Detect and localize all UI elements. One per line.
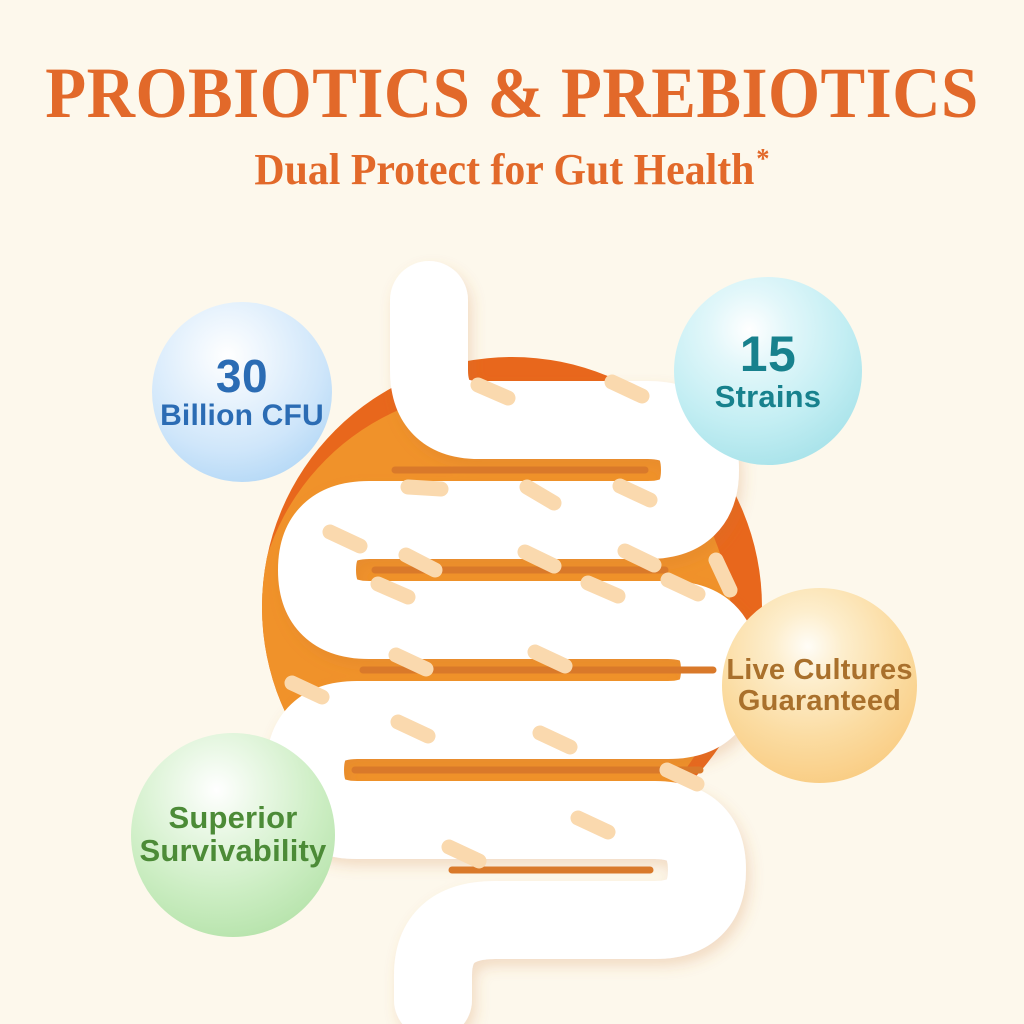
page-title: PROBIOTICS & PREBIOTICS [36,0,988,131]
badge-cultures-line2: Guaranteed [738,686,901,717]
probiotics-infographic-poster: PROBIOTICS & PREBIOTICS Dual Protect for… [0,0,1024,1024]
badge-survive-line2: Survivability [140,835,327,868]
badge-strains-value: 15 [740,328,797,381]
page-subtitle: Dual Protect for Gut Health* [26,131,999,193]
footnote-asterisk: * [756,144,769,175]
badge-15-strains: 15 Strains [674,277,862,465]
badge-cfu-value: 30 [216,352,268,401]
badge-survive-line1: Superior [168,802,297,835]
badge-cultures-line1: Live Cultures [726,655,912,686]
badge-cfu-label: Billion CFU [160,400,324,432]
badge-strains-label: Strains [715,381,822,414]
badge-live-cultures-guaranteed: Live Cultures Guaranteed [722,588,917,783]
subtitle-text: Dual Protect for Gut Health [254,145,754,194]
badge-30-billion-cfu: 30 Billion CFU [152,302,332,482]
header: PROBIOTICS & PREBIOTICS Dual Protect for… [0,0,1024,193]
badge-superior-survivability: Superior Survivability [131,733,335,937]
